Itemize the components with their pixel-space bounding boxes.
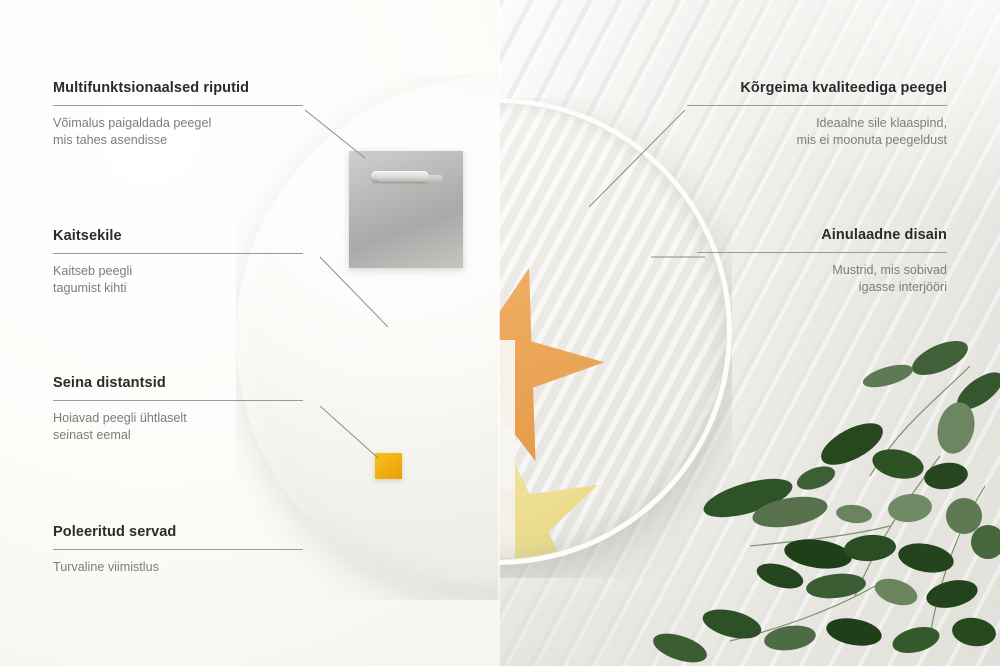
callout-multifunktsionaalsed-riputid: Multifunktsionaalsed riputid Võimalus pa… — [53, 80, 303, 150]
callout-title: Kõrgeima kvaliteediga peegel — [687, 80, 947, 96]
callout-body: Mustrid, mis sobivadigasse interjööri — [697, 262, 947, 297]
callout-seina-distantsid: Seina distantsid Hoiavad peegli ühtlasel… — [53, 375, 303, 445]
wall-spacer — [375, 453, 402, 479]
callout-body: Ideaalne sile klaaspind,mis ei moonuta p… — [687, 115, 947, 150]
infographic-stage: Multifunktsionaalsed riputid Võimalus pa… — [0, 0, 1000, 666]
callout-title: Kaitsekile — [53, 228, 303, 244]
callout-rule — [687, 105, 947, 106]
callout-body: Võimalus paigaldada peegelmis tahes asen… — [53, 115, 303, 150]
callout-rule — [53, 253, 303, 254]
callout-rule — [697, 252, 947, 253]
callout-body: Hoiavad peegli ühtlaseltseinast eemal — [53, 410, 303, 445]
hanger-slot-shadow — [377, 175, 443, 182]
hanger-plate — [349, 151, 463, 268]
callout-kaitsekile: Kaitsekile Kaitseb peeglitagumist kihti — [53, 228, 303, 298]
half-split-divider — [498, 0, 500, 666]
callout-poleeritud-servad: Poleeritud servad Turvaline viimistlus — [53, 524, 303, 576]
callout-title: Seina distantsid — [53, 375, 303, 391]
callout-rule — [53, 549, 303, 550]
callout-rule — [53, 400, 303, 401]
callout-body: Turvaline viimistlus — [53, 559, 303, 576]
callout-title: Ainulaadne disain — [697, 227, 947, 243]
callout-title: Multifunktsionaalsed riputid — [53, 80, 303, 96]
foreground-plant — [640, 336, 1000, 666]
callout-korgeima-kvaliteediga-peegel: Kõrgeima kvaliteediga peegel Ideaalne si… — [687, 80, 947, 150]
callout-ainulaadne-disain: Ainulaadne disain Mustrid, mis sobivadig… — [697, 227, 947, 297]
callout-body: Kaitseb peeglitagumist kihti — [53, 263, 303, 298]
callout-title: Poleeritud servad — [53, 524, 303, 540]
plant-leaves — [650, 336, 1000, 666]
callout-rule — [53, 105, 303, 106]
